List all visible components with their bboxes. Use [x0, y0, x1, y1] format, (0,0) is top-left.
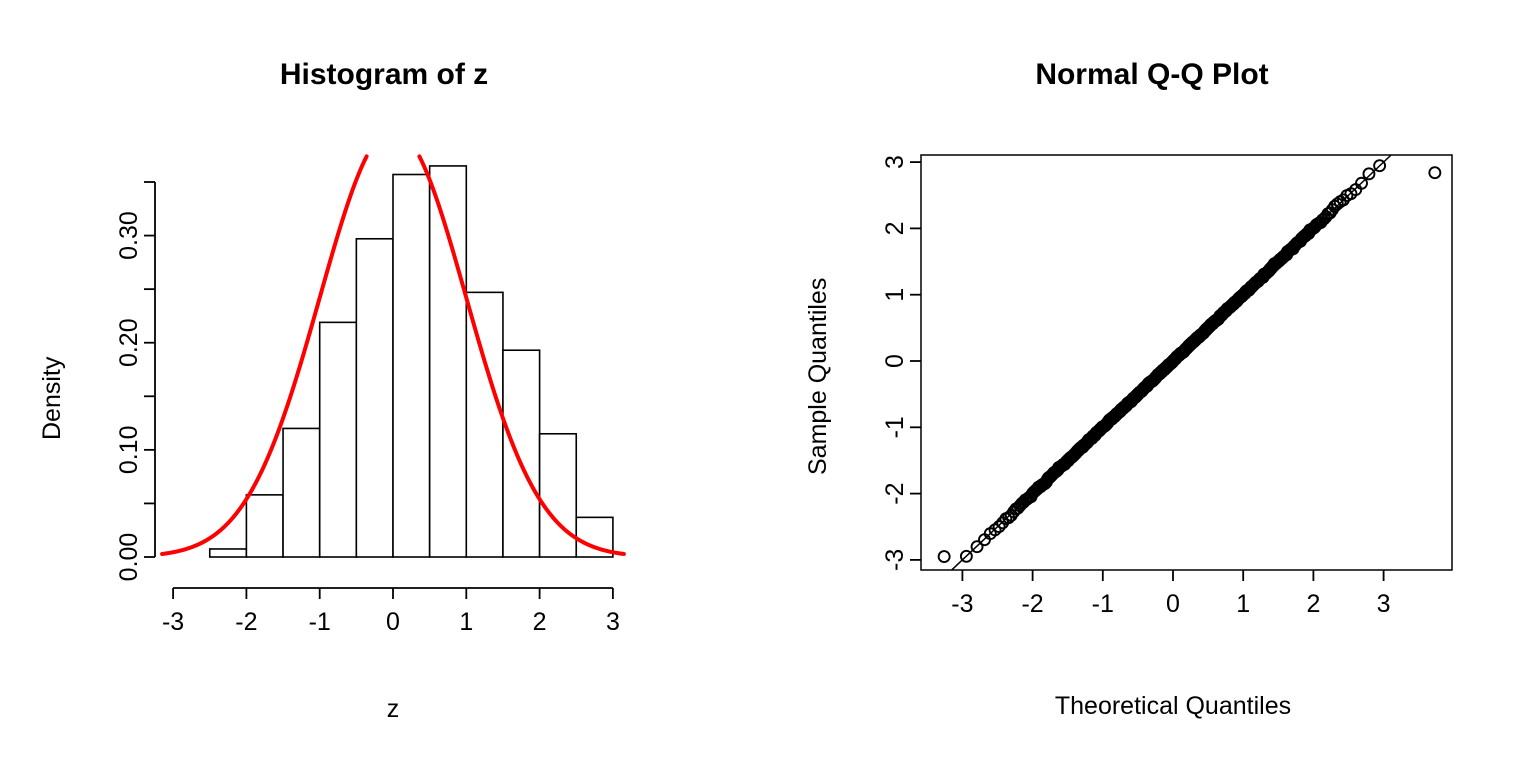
y-axis-tick-label: 3: [881, 155, 909, 169]
histogram-bar: [246, 495, 283, 557]
y-axis-tick-label: -2: [881, 482, 909, 504]
histogram-bar: [210, 549, 247, 557]
qq-x-axis: -3-2-10123: [951, 570, 1390, 618]
histogram-y-axis: 0.000.100.200.30: [115, 182, 155, 581]
y-axis-tick-label: 0.10: [115, 426, 143, 475]
y-axis-tick-label: 0: [881, 354, 909, 368]
qq-point: [1429, 167, 1440, 178]
x-axis-tick-label: 1: [1236, 590, 1250, 618]
histogram-bar: [393, 175, 430, 558]
y-axis-tick-label: 1: [881, 288, 909, 302]
qq-plot-title: Normal Q-Q Plot: [768, 58, 1536, 92]
x-axis-tick-label: 0: [386, 608, 400, 636]
histogram-x-axis: -3-2-10123: [162, 588, 620, 636]
x-axis-tick-label: 2: [533, 608, 547, 636]
x-axis-tick-label: -2: [235, 608, 257, 636]
histogram-plot-area: 0.000.100.200.30 -3-2-10123: [0, 0, 768, 768]
x-axis-tick-label: 1: [459, 608, 473, 636]
histogram-panel: Histogram of z Density z 0.000.100.200.3…: [0, 0, 768, 768]
qq-data-points: [939, 160, 1441, 562]
histogram-bar: [320, 322, 357, 557]
x-axis-tick-label: 0: [1166, 590, 1180, 618]
x-axis-tick-label: -1: [309, 608, 331, 636]
qq-x-axis-title: Theoretical Quantiles: [789, 692, 1536, 721]
y-axis-tick-label: 2: [881, 221, 909, 235]
qq-point: [1363, 168, 1374, 179]
y-axis-tick-label: -3: [881, 549, 909, 571]
x-axis-tick-label: -1: [1092, 590, 1114, 618]
x-axis-tick-label: 3: [1377, 590, 1391, 618]
histogram-bar: [503, 350, 540, 557]
qq-point: [939, 551, 950, 562]
qq-plot-area: -3-2-10123 -3-2-10123: [768, 0, 1536, 768]
x-axis-tick-label: -3: [951, 590, 973, 618]
y-axis-tick-label: 0.30: [115, 211, 143, 260]
histogram-bar: [540, 434, 577, 557]
y-axis-tick-label: -1: [881, 416, 909, 438]
qq-plot-frame: [921, 155, 1452, 570]
qq-plot-panel: Normal Q-Q Plot Sample Quantiles Theoret…: [768, 0, 1536, 768]
x-axis-tick-label: 2: [1306, 590, 1320, 618]
histogram-x-axis-title: z: [9, 695, 777, 724]
figure-canvas: Histogram of z Density z 0.000.100.200.3…: [0, 0, 1536, 768]
histogram-bar: [466, 292, 503, 557]
qq-y-axis-title: Sample Quantiles: [804, 278, 833, 475]
histogram-y-axis-title: Density: [38, 357, 67, 440]
histogram-bars: [210, 166, 613, 557]
histogram-title: Histogram of z: [0, 58, 768, 92]
histogram-bar: [430, 166, 467, 557]
y-axis-tick-label: 0.00: [115, 533, 143, 582]
x-axis-tick-label: -2: [1021, 590, 1043, 618]
histogram-bar: [283, 428, 320, 557]
histogram-bar: [356, 239, 393, 557]
qq-y-axis: -3-2-10123: [881, 155, 921, 571]
x-axis-tick-label: 3: [606, 608, 620, 636]
x-axis-tick-label: -3: [162, 608, 184, 636]
y-axis-tick-label: 0.20: [115, 318, 143, 367]
